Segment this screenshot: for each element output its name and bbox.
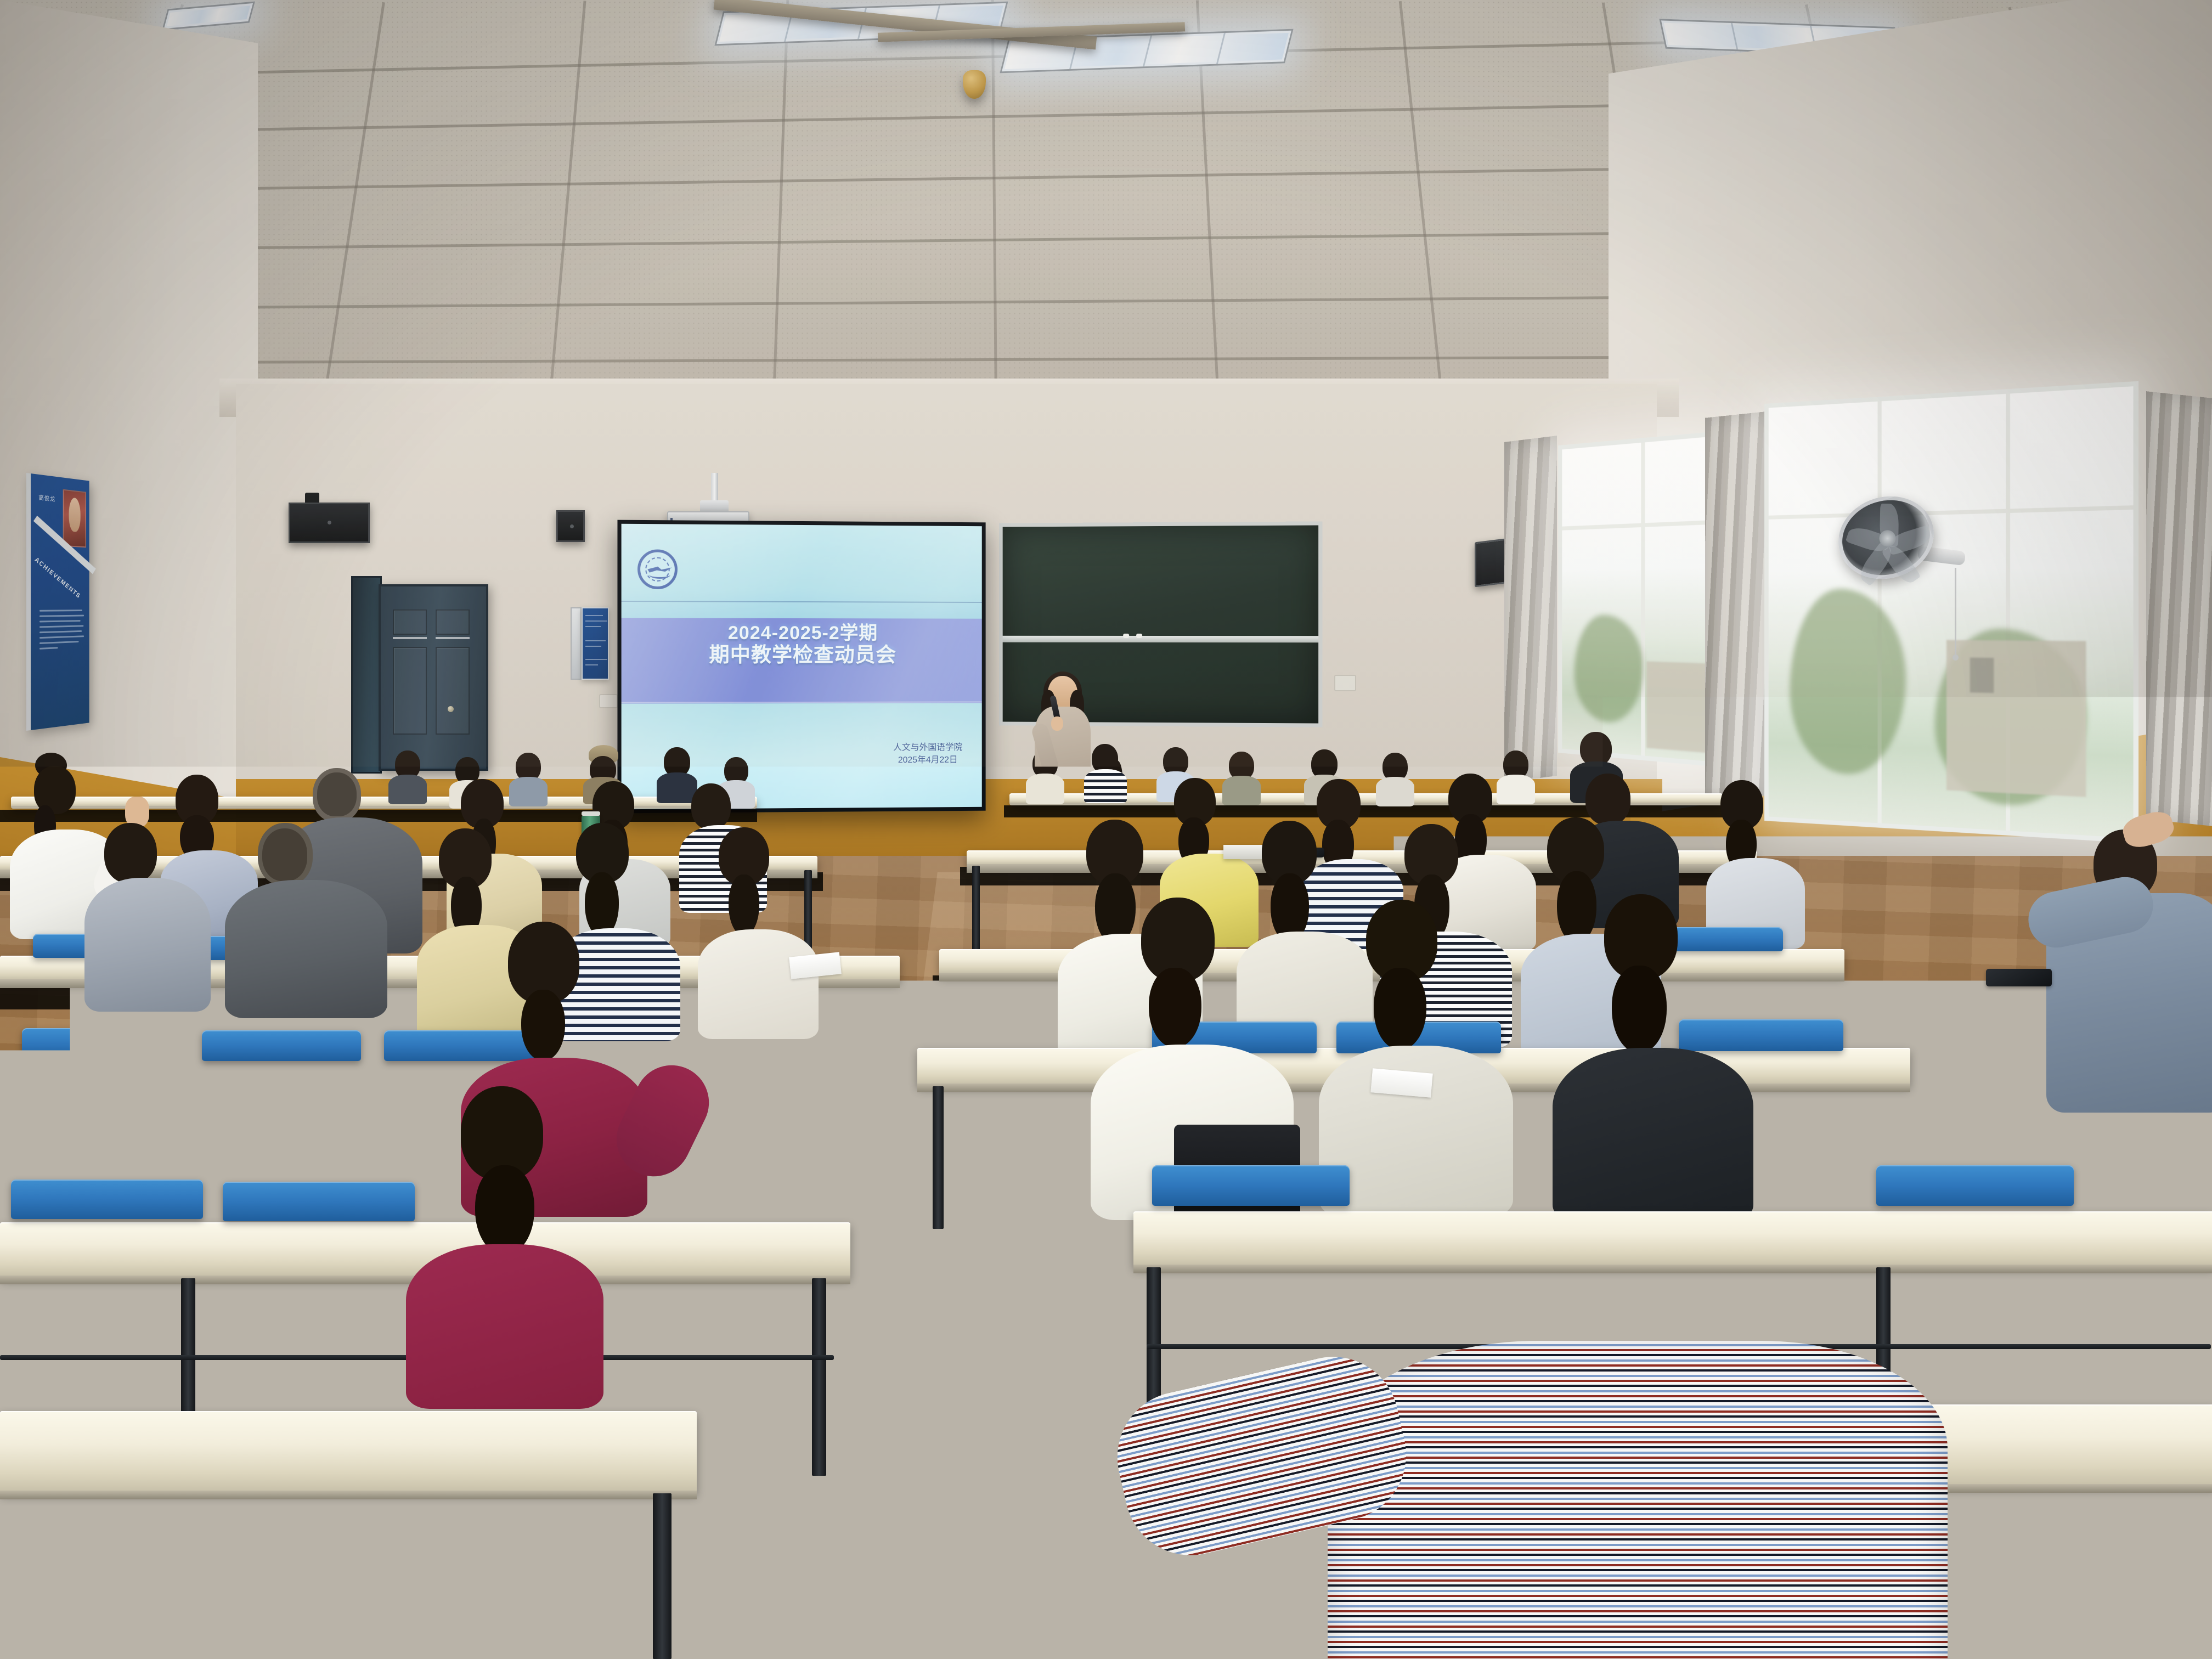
classroom-seat[interactable] (223, 1182, 415, 1221)
window (1764, 381, 2138, 844)
classroom-seat[interactable] (1152, 1165, 1350, 1206)
student-desk (0, 1411, 697, 1493)
smartphone-on-desk[interactable] (1986, 969, 2052, 986)
window-curtain[interactable] (2146, 391, 2212, 827)
classroom-seat[interactable] (11, 1180, 203, 1219)
door-knob[interactable] (448, 706, 454, 712)
classroom-seat[interactable] (22, 1028, 181, 1059)
projector-mount-pole (711, 473, 718, 503)
classroom-seat[interactable] (1679, 1019, 1843, 1051)
poster-heading: ACHIEVEMENTS (33, 556, 82, 600)
classroom-seat[interactable] (202, 1030, 361, 1061)
power-outlet[interactable] (599, 694, 618, 708)
classroom-photo-scene: 高俊龙 ACHIEVEMENTS (0, 0, 2212, 1659)
door-jamb (351, 576, 382, 774)
poster-body-text (39, 610, 84, 653)
classroom-seat[interactable] (0, 1558, 263, 1624)
classroom-seat[interactable] (384, 1030, 543, 1061)
fan-pull-cord[interactable] (1955, 568, 1956, 656)
instruction-placard (582, 607, 609, 680)
paper-handout[interactable] (1370, 1068, 1432, 1097)
power-outlet[interactable] (1334, 675, 1356, 691)
student-desk (11, 797, 757, 809)
achievements-poster: 高俊龙 ACHIEVEMENTS (26, 473, 89, 731)
foreground-hair-tie (1624, 1314, 1683, 1333)
presenter (1029, 676, 1095, 830)
window-curtain[interactable] (1705, 411, 1765, 802)
wall-speaker (289, 503, 370, 543)
poster-name-label: 高俊龙 (38, 493, 55, 503)
window-curtain[interactable] (1504, 436, 1557, 782)
chalk-rail (1003, 636, 1318, 642)
placard-edge (571, 607, 582, 680)
window (1558, 431, 1723, 767)
wall-speaker (556, 510, 585, 542)
classroom-seat[interactable] (1876, 1165, 2074, 1206)
presenter-hand (1051, 716, 1063, 731)
classroom-door[interactable] (379, 584, 488, 771)
presenter-papers (1048, 792, 1096, 808)
poster-portrait-photo (63, 489, 86, 548)
